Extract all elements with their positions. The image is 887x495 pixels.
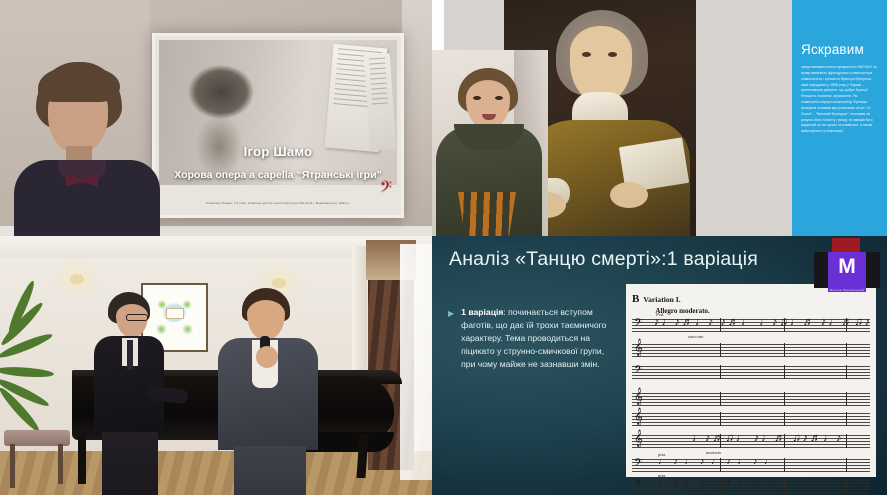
logo-author-name: Микола Підгорецький <box>814 288 880 292</box>
treble-clef-icon: 𝄞 <box>634 431 643 446</box>
treble-clef-icon: 𝄞 <box>634 409 643 424</box>
panel-concert-hall[interactable] <box>0 236 432 495</box>
portrait-eye-left <box>582 52 591 57</box>
student-performer-figure <box>96 292 164 495</box>
panel-analysis-slide[interactable]: Аналіз «Танцю смерті»:1 варіація ▶ 1 вар… <box>432 236 887 495</box>
projected-slide: Ігор Шамо Хорова опера a capella “Ятранс… <box>152 33 404 218</box>
score-movement-label: Variation I. <box>643 295 680 304</box>
bullet-lead-label: 1 варіація <box>461 307 503 317</box>
slide-subtitle: Хорова опера a capella “Ятранські ігри” <box>155 169 401 181</box>
blue-panel-body: представником епохи прекрасного БАРОКО п… <box>801 65 878 135</box>
score-marcato-marking: marcato <box>706 450 721 455</box>
student2-trousers <box>102 432 158 495</box>
portrait-hand-right <box>610 182 648 208</box>
piano-leg-front <box>78 434 86 484</box>
staff-notes: ♩ ♪ ♩ ♪ ♩ ♪ ♩ ♩ ♪ <box>658 478 775 487</box>
blue-panel-heading: Яскравим <box>801 42 878 57</box>
bullet-paragraph: 1 варіація: починається вступом фаготів,… <box>461 306 620 371</box>
channel-logo[interactable]: M Микола Підгорецький <box>814 238 880 294</box>
staff-line: 𝄞 ♩♪♬♫♩ ♪♩♬ ♫♪♬♩♪ marcato <box>632 434 870 449</box>
room-wall-right <box>402 0 432 236</box>
score-ped-marking: Ped. <box>656 312 664 317</box>
presenter-collar <box>58 160 106 180</box>
staff-line: 𝄢 <box>632 365 870 380</box>
bass-clef-icon: 𝄢 <box>380 180 392 199</box>
student2-tie <box>127 340 133 370</box>
piano-bench-leg <box>58 444 63 484</box>
plant-leaf <box>0 366 54 379</box>
score-pizz-marking: pizz. <box>658 473 666 478</box>
host-face <box>247 300 285 340</box>
score-staccato-marking: staccato <box>688 334 703 339</box>
staff-line: 𝄢 ♩ ♪ ♩ ♪ ♩ ♪ ♩ ♪ ♩ pizz. <box>632 458 870 473</box>
treble-clef-icon: 𝄞 <box>634 340 643 355</box>
window-sheer <box>400 244 432 480</box>
slide-caption: Клименко Роман, 7-й клас, Київська дитяч… <box>161 201 395 205</box>
staff-notes: ♩♪♬♫♩ ♪♩♬ ♫♪♬♩♪ <box>692 433 844 444</box>
student-eye-right <box>495 96 503 100</box>
artwork-book-motif <box>166 308 184 319</box>
host-trousers <box>234 446 306 495</box>
score-pizz-marking: pizz. <box>658 452 666 457</box>
portrait-eye-right <box>608 52 617 57</box>
student-face <box>466 80 510 130</box>
presenter-figure <box>22 62 152 236</box>
analysis-slide-title: Аналіз «Танцю смерті»:1 варіація <box>449 248 809 271</box>
slide-blue-text-panel: Яскравим представником епохи прекрасного… <box>792 0 887 236</box>
staff-line: 𝄞 <box>632 412 870 427</box>
wall-sconce-right <box>272 278 286 288</box>
bass-clef-icon: 𝄢 <box>634 478 642 491</box>
portrait-face <box>570 26 632 102</box>
sheet-music-page-2 <box>364 53 397 151</box>
wall-sconce-left <box>70 274 84 284</box>
presenter-fringe <box>38 68 120 102</box>
panel-presenter-slide[interactable]: Ігор Шамо Хорова опера a capella “Ятранс… <box>0 0 432 236</box>
host-figure <box>222 288 314 495</box>
bass-clef-icon: 𝄢 <box>634 364 642 377</box>
bass-clef-icon: 𝄢 <box>634 457 642 470</box>
piano-bench-leg <box>10 444 15 488</box>
staff-notes: ♪♩♪♬♩♪ ♪♬♩ ♩♪♫♩♬ ♪♩♬♫♪ <box>654 317 872 328</box>
composer-photo <box>159 40 397 185</box>
collage-grid: Ігор Шамо Хорова опера a capella “Ятранс… <box>0 0 887 495</box>
panel-baroque-portrait-slide[interactable]: Яскравим представником епохи прекрасного… <box>432 0 887 236</box>
staff-notes: ♩ ♪ ♩ ♪ ♩ ♪ ♩ ♪ ♩ <box>658 457 775 466</box>
staff-line: 𝄞 <box>632 343 870 358</box>
staff-line: 𝄞 <box>632 392 870 407</box>
webcam-overlay-student[interactable] <box>432 50 548 236</box>
staff-line: 𝄢 ♪♩♪♬♩♪ ♪♬♩ ♩♪♫♩♬ ♪♩♬♫♪ Ped. staccato <box>632 318 870 333</box>
student2-face <box>116 304 148 338</box>
logo-letter: M <box>828 256 866 277</box>
rehearsal-mark: B <box>632 293 639 305</box>
student2-glasses <box>126 314 148 321</box>
host-hand <box>256 346 278 368</box>
musical-score-image: B Variation I. Allegro moderato. 𝄢 ♪♩♪♬♩… <box>626 284 876 477</box>
bass-clef-icon: 𝄢 <box>634 317 642 330</box>
student-eye-left <box>473 96 481 100</box>
treble-clef-icon: 𝄞 <box>634 389 643 404</box>
potted-plant <box>0 310 78 442</box>
student-hoodie-pattern <box>458 192 516 236</box>
analysis-bullet: ▶ 1 варіація: починається вступом фаготі… <box>448 306 620 371</box>
staff-line: 𝄢 ♩ ♪ ♩ ♪ ♩ ♪ ♩ ♩ ♪ pizz. <box>632 479 870 494</box>
slide-title: Ігор Шамо <box>155 144 401 159</box>
bullet-arrow-icon: ▶ <box>448 306 454 371</box>
